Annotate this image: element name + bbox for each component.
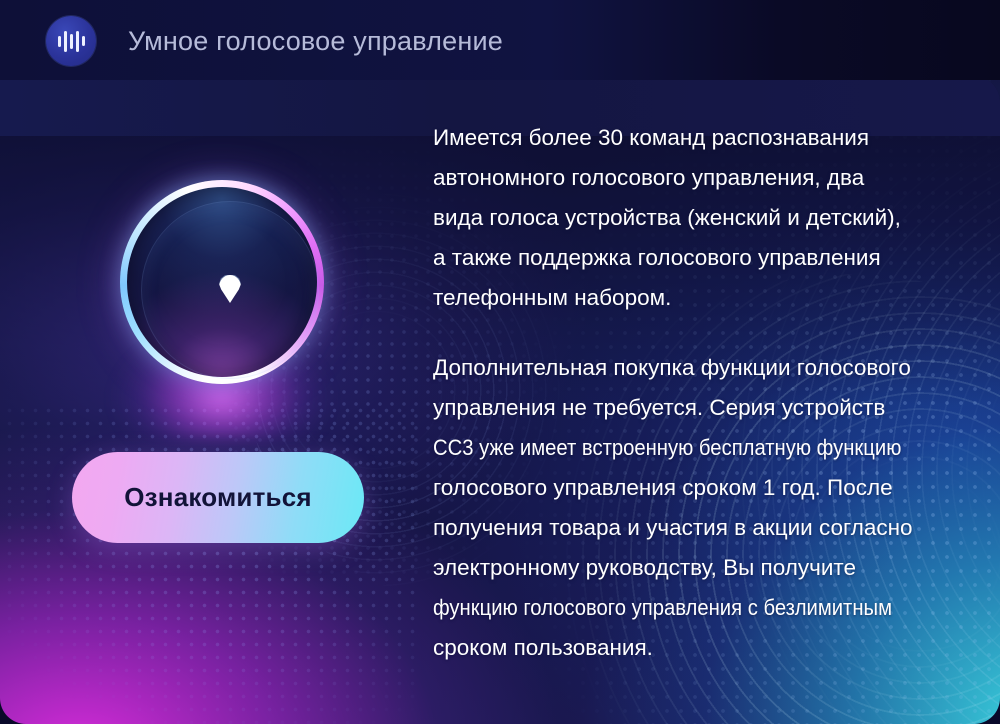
paragraph-line: а также поддержка голосового управления [433, 238, 978, 278]
paragraph-line: Дополнительная покупка функции голосовог… [433, 348, 978, 388]
paragraph-spacer [433, 318, 978, 348]
voice-waveform-icon [46, 16, 96, 66]
learn-more-button[interactable]: Ознакомиться [72, 452, 364, 543]
paragraph-line: вида голоса устройства (женский и детски… [433, 198, 978, 238]
paragraph-line: Имеется более 30 команд распознавания [433, 118, 978, 158]
waveform-bar [76, 31, 79, 52]
orb-ring [120, 180, 324, 384]
paragraph-line: CC3 уже имеет встроенную бесплатную функ… [433, 428, 901, 468]
page-title: Умное голосовое управление [128, 26, 503, 57]
paragraph-1: Имеется более 30 команд распознавания ав… [433, 118, 978, 318]
orb-inner-sphere [127, 187, 317, 377]
paragraph-line: автономного голосового управления, два [433, 158, 978, 198]
paragraph-line: голосового управления сроком 1 год. Посл… [433, 468, 978, 508]
paragraph-line: получения товара и участия в акции согла… [433, 508, 978, 548]
waveform-bar [64, 31, 67, 52]
waveform-bar [58, 36, 61, 47]
waveform-bar [82, 36, 85, 46]
waveform-bar [70, 34, 73, 49]
body-copy: Имеется более 30 команд распознавания ав… [433, 118, 978, 668]
header: Умное голосовое управление [46, 16, 503, 66]
paragraph-2: Дополнительная покупка функции голосовог… [433, 348, 978, 668]
paragraph-line: сроком пользования. [433, 628, 978, 668]
promo-slide: Умное голосовое управление Ознакомиться … [0, 0, 1000, 724]
paragraph-line: телефонным набором. [433, 278, 978, 318]
paragraph-line: электронному руководству, Вы получите [433, 548, 978, 588]
location-pin-icon [219, 275, 241, 303]
paragraph-line: управления не требуется. Серия устройств [433, 388, 978, 428]
voice-assistant-orb [120, 180, 324, 384]
paragraph-line: функцию голосового управления с безлимит… [433, 588, 892, 628]
